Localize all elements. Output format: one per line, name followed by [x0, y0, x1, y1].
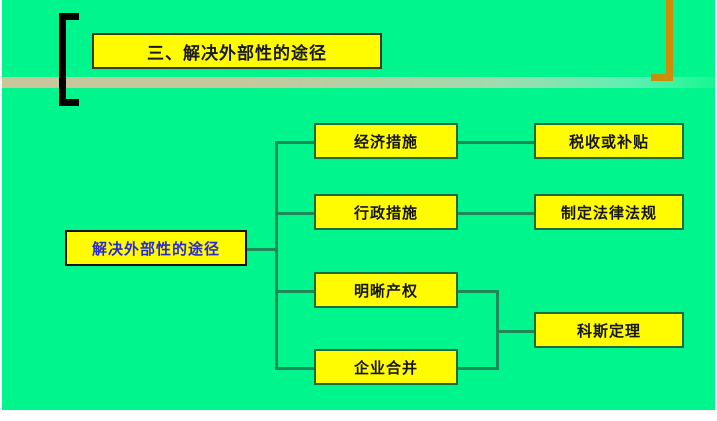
node-enterprise-merger[interactable]: 企业合并 [314, 349, 458, 385]
slide: 三、解决外部性的途径 解决外部性的途径 经济措施 行政措施 明晰产权 [0, 0, 717, 421]
node-formulate-laws-label: 制定法律法规 [561, 202, 657, 223]
slide-edge-bottom [0, 410, 717, 421]
node-economic-measures-label: 经济措施 [354, 131, 418, 152]
node-administrative-measures[interactable]: 行政措施 [314, 194, 458, 230]
node-root[interactable]: 解决外部性的途径 [65, 230, 247, 266]
connector-trunk [275, 141, 278, 369]
connector-trunk-to-economic [275, 141, 315, 144]
connector-merge-to-coase [496, 330, 535, 333]
node-formulate-laws[interactable]: 制定法律法规 [534, 194, 684, 230]
connector-property-rights-to-merge [457, 290, 499, 293]
node-tax-or-subsidy[interactable]: 税收或补贴 [534, 123, 684, 159]
connector-merger-to-merge [457, 367, 499, 370]
connector-root-stub [246, 248, 278, 251]
header-divider [0, 77, 717, 88]
node-economic-measures[interactable]: 经济措施 [314, 123, 458, 159]
left-square-bracket-icon [59, 13, 79, 106]
connector-administrative-to-law [457, 212, 535, 215]
node-clarify-property-rights-label: 明晰产权 [354, 280, 418, 301]
connector-trunk-to-property-rights [275, 290, 315, 293]
node-enterprise-merger-label: 企业合并 [354, 357, 418, 378]
node-tax-or-subsidy-label: 税收或补贴 [569, 131, 649, 152]
node-clarify-property-rights[interactable]: 明晰产权 [314, 272, 458, 308]
node-administrative-measures-label: 行政措施 [354, 202, 418, 223]
right-square-bracket-icon [651, 0, 673, 81]
connector-economic-to-tax [457, 141, 535, 144]
page-title: 三、解决外部性的途径 [147, 39, 327, 64]
connector-trunk-to-merger [275, 367, 315, 370]
slide-title-box: 三、解决外部性的途径 [92, 33, 382, 69]
node-coase-theorem[interactable]: 科斯定理 [534, 312, 684, 348]
connector-trunk-to-administrative [275, 212, 315, 215]
node-coase-theorem-label: 科斯定理 [577, 320, 641, 341]
node-root-label: 解决外部性的途径 [92, 238, 220, 259]
slide-edge-left [0, 0, 2, 421]
slide-canvas: 三、解决外部性的途径 解决外部性的途径 经济措施 行政措施 明晰产权 [0, 0, 717, 410]
